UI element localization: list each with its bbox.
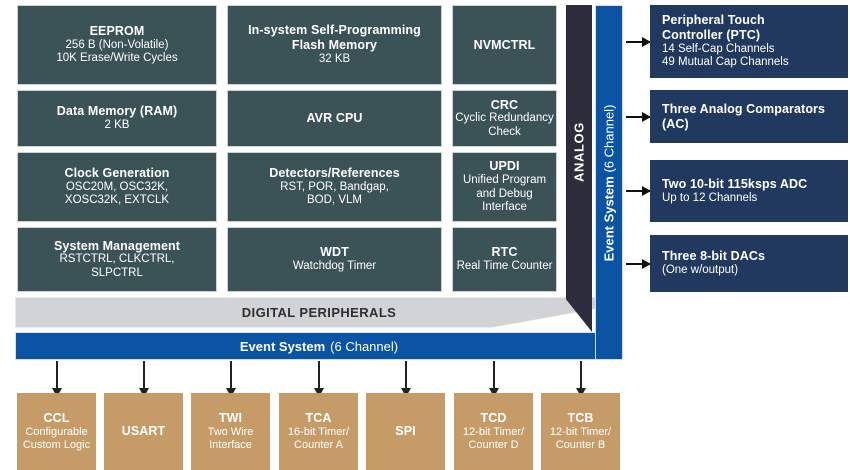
block-subtitle: Up to 12 Channels bbox=[662, 192, 757, 206]
arrow-to-tcb bbox=[580, 361, 582, 389]
arrow-to-ccl bbox=[56, 361, 58, 389]
block-title-line2: (AC) bbox=[662, 117, 689, 132]
event-system-label: Event System bbox=[240, 339, 325, 354]
block-tca: TCA 16-bit Timer/ Counter A bbox=[279, 393, 358, 470]
block-twi: TWI Two Wire Interface bbox=[191, 393, 270, 470]
block-ccl: CCL Configurable Custom Logic bbox=[17, 393, 96, 470]
block-title: AVR CPU bbox=[306, 111, 362, 126]
block-subtitle: Interface bbox=[209, 439, 252, 452]
block-title: Three Analog Comparators bbox=[662, 102, 825, 117]
block-subtitle: Custom Logic bbox=[23, 439, 90, 452]
block-title: USART bbox=[122, 424, 166, 439]
block-subtitle: 2 KB bbox=[105, 119, 130, 133]
block-tcd: TCD 12-bit Timer/ Counter D bbox=[454, 393, 533, 470]
block-subtitle: Watchdog Timer bbox=[293, 260, 376, 274]
block-detectors-references: Detectors/References RST, POR, Bandgap, … bbox=[227, 152, 442, 222]
block-title-line2: Flash Memory bbox=[292, 38, 377, 53]
block-title: EEPROM bbox=[90, 24, 145, 39]
block-subtitle: Two Wire bbox=[208, 426, 254, 439]
block-peripheral-touch-controller: Peripheral Touch Controller (PTC) 14 Sel… bbox=[650, 5, 848, 78]
block-subtitle: (One w/output) bbox=[662, 264, 738, 278]
block-subtitle: 12-bit Timer/ bbox=[463, 426, 524, 439]
arrow-to-analog-comparators bbox=[626, 116, 650, 118]
block-adc: Two 10-bit 115ksps ADC Up to 12 Channels bbox=[650, 160, 848, 222]
block-rtc: RTC Real Time Counter bbox=[452, 227, 557, 292]
analog-label: ANALOG bbox=[572, 122, 587, 182]
block-dac: Three 8-bit DACs (One w/output) bbox=[650, 235, 848, 292]
block-title: NVMCTRL bbox=[474, 38, 536, 53]
block-title: Two 10-bit 115ksps ADC bbox=[662, 177, 807, 192]
block-subtitle: Configurable bbox=[25, 426, 87, 439]
block-avr-cpu: AVR CPU bbox=[227, 90, 442, 147]
block-title: Peripheral Touch bbox=[662, 13, 765, 28]
arrow-to-ptc bbox=[626, 41, 650, 43]
block-eeprom: EEPROM 256 B (Non-Volatile) 10K Erase/Wr… bbox=[17, 5, 217, 85]
block-subtitle: XOSC32K, EXTCLK bbox=[65, 194, 169, 208]
block-analog-comparators: Three Analog Comparators (AC) bbox=[650, 90, 848, 143]
event-system-vertical-label: Event System (6 Channel) bbox=[602, 104, 617, 261]
block-updi: UPDI Unified Program and Debug Interface bbox=[452, 152, 557, 222]
block-subtitle: Counter D bbox=[468, 439, 518, 452]
block-diagram: EEPROM 256 B (Non-Volatile) 10K Erase/Wr… bbox=[0, 0, 850, 470]
block-title: TWI bbox=[219, 411, 242, 426]
event-system-bar-horizontal: Event System (6 Channel) bbox=[15, 332, 623, 360]
block-title-line2: Controller (PTC) bbox=[662, 28, 760, 43]
block-flash-memory: In-system Self-Programming Flash Memory … bbox=[227, 5, 442, 85]
block-title: WDT bbox=[320, 245, 349, 260]
block-subtitle: Unified Program bbox=[463, 174, 546, 188]
digital-peripherals-bar: DIGITAL PERIPHERALS bbox=[15, 297, 623, 328]
block-title: SPI bbox=[395, 424, 415, 439]
block-spi: SPI bbox=[366, 393, 445, 470]
block-title: RTC bbox=[492, 245, 518, 260]
block-tcb: TCB 12-bit Timer/ Counter B bbox=[541, 393, 620, 470]
arrow-to-spi bbox=[405, 361, 407, 389]
event-system-channels: (6 Channel) bbox=[330, 339, 398, 354]
block-subtitle: 12-bit Timer/ bbox=[550, 426, 611, 439]
block-subtitle: SLPCTRL bbox=[91, 267, 143, 281]
block-subtitle: OSC20M, OSC32K, bbox=[66, 181, 168, 195]
block-title: CRC bbox=[491, 98, 518, 113]
arrow-to-tcd bbox=[493, 361, 495, 389]
arrow-to-tca bbox=[318, 361, 320, 389]
block-title: CCL bbox=[44, 411, 70, 426]
block-crc: CRC Cyclic Redundancy Check bbox=[452, 90, 557, 147]
block-subtitle: and Debug Interface bbox=[453, 188, 556, 215]
arrow-to-twi bbox=[230, 361, 232, 389]
block-subtitle: RST, POR, Bandgap, bbox=[280, 181, 389, 195]
block-title: Three 8-bit DACs bbox=[662, 249, 765, 264]
block-subtitle: Counter A bbox=[294, 439, 343, 452]
block-subtitle: 14 Self-Cap Channels bbox=[662, 43, 775, 57]
block-subtitle: Counter B bbox=[556, 439, 606, 452]
arrow-to-dac bbox=[626, 263, 650, 265]
block-title: Data Memory (RAM) bbox=[57, 104, 177, 119]
block-title: In-system Self-Programming bbox=[248, 23, 421, 38]
block-title: Detectors/References bbox=[269, 166, 400, 181]
block-subtitle: 32 KB bbox=[319, 53, 350, 67]
block-subtitle: 49 Mutual Cap Channels bbox=[662, 56, 789, 70]
block-nvmctrl: NVMCTRL bbox=[452, 5, 557, 85]
digital-peripherals-label: DIGITAL PERIPHERALS bbox=[242, 305, 396, 320]
block-subtitle: BOD, VLM bbox=[307, 194, 362, 208]
block-usart: USART bbox=[104, 393, 183, 470]
block-system-management: System Management RSTCTRL, CLKCTRL, SLPC… bbox=[17, 227, 217, 292]
analog-bar: ANALOG bbox=[566, 5, 592, 332]
block-subtitle: Real Time Counter bbox=[457, 260, 553, 274]
block-subtitle: RSTCTRL, CLKCTRL, bbox=[59, 253, 174, 267]
event-system-bar-vertical: Event System (6 Channel) bbox=[595, 5, 623, 360]
block-title: Clock Generation bbox=[64, 166, 169, 181]
block-title: System Management bbox=[54, 239, 180, 254]
block-title: TCB bbox=[568, 411, 594, 426]
block-title: UPDI bbox=[489, 159, 519, 174]
block-subtitle: Cyclic Redundancy bbox=[455, 112, 553, 126]
block-subtitle: Check bbox=[488, 126, 521, 140]
block-title: TCA bbox=[306, 411, 332, 426]
block-subtitle: 256 B (Non-Volatile) bbox=[66, 39, 169, 53]
block-data-memory: Data Memory (RAM) 2 KB bbox=[17, 90, 217, 147]
block-subtitle: 10K Erase/Write Cycles bbox=[56, 52, 177, 66]
block-subtitle: 16-bit Timer/ bbox=[288, 426, 349, 439]
arrow-to-usart bbox=[143, 361, 145, 389]
block-title: TCD bbox=[481, 411, 507, 426]
arrow-to-adc bbox=[626, 190, 650, 192]
block-clock-generation: Clock Generation OSC20M, OSC32K, XOSC32K… bbox=[17, 152, 217, 222]
block-wdt: WDT Watchdog Timer bbox=[227, 227, 442, 292]
